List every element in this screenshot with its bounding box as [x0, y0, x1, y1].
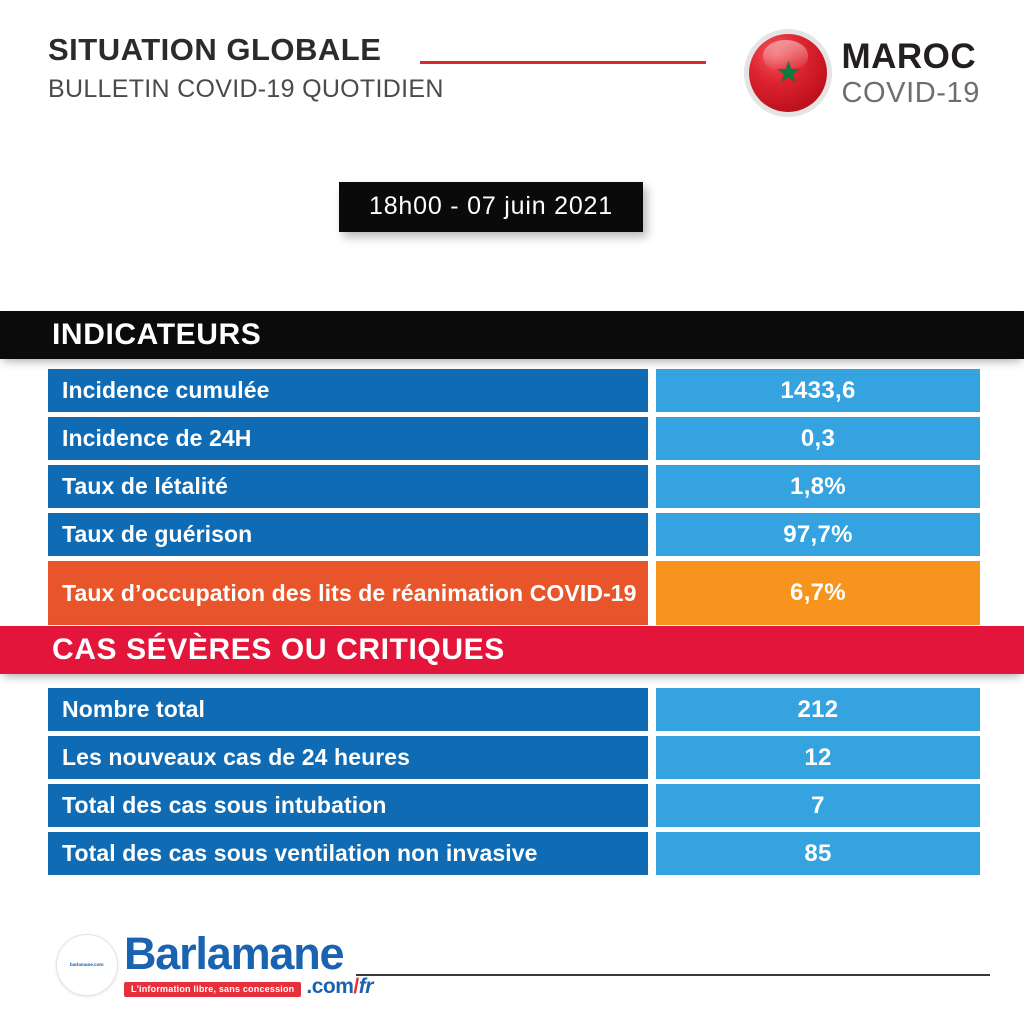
- barlamane-name: Barlamane: [124, 932, 373, 975]
- barlamane-lower-lockup: L'information libre, sans concession .co…: [124, 976, 373, 997]
- barlamane-slogan: L'information libre, sans concession: [124, 982, 301, 997]
- title-block: SITUATION GLOBALE BULLETIN COVID-19 QUOT…: [48, 34, 444, 102]
- row-value: 6,7%: [656, 561, 980, 625]
- table-row: Incidence de 24H 0,3: [48, 417, 980, 460]
- row-value: 85: [656, 832, 980, 875]
- table-row: Nombre total 212: [48, 688, 980, 731]
- brand-tagline: COVID-19: [841, 79, 980, 108]
- barlamane-domain: .com/fr: [306, 976, 373, 997]
- row-value: 1,8%: [656, 465, 980, 508]
- section-header-indicateurs: INDICATEURS: [0, 311, 1024, 359]
- barlamane-logo[interactable]: barlamane.com Barlamane L'information li…: [56, 932, 373, 997]
- table-row-highlight: Taux d’occupation des lits de réanimatio…: [48, 561, 980, 625]
- row-label: Incidence de 24H: [48, 417, 648, 460]
- row-label: Total des cas sous ventilation non invas…: [48, 832, 648, 875]
- row-label: Taux d’occupation des lits de réanimatio…: [48, 561, 648, 625]
- barlamane-badge-icon: barlamane.com: [56, 934, 118, 996]
- barlamane-wordmark: Barlamane L'information libre, sans conc…: [124, 932, 373, 997]
- row-value: 0,3: [656, 417, 980, 460]
- indicateurs-table: Incidence cumulée 1433,6 Incidence de 24…: [48, 369, 980, 630]
- brand-lockup: ★ MAROC COVID-19: [749, 34, 980, 112]
- page-header: SITUATION GLOBALE BULLETIN COVID-19 QUOT…: [0, 34, 1024, 129]
- row-value: 12: [656, 736, 980, 779]
- page-footer: barlamane.com Barlamane L'information li…: [0, 926, 1024, 1006]
- brand-text: MAROC COVID-19: [841, 39, 980, 108]
- row-label: Total des cas sous intubation: [48, 784, 648, 827]
- barlamane-badge-text: barlamane.com: [70, 962, 104, 968]
- table-row: Incidence cumulée 1433,6: [48, 369, 980, 412]
- row-value: 97,7%: [656, 513, 980, 556]
- domain-com: .com: [306, 975, 353, 998]
- date-banner: 18h00 - 07 juin 2021: [339, 182, 643, 232]
- row-value: 212: [656, 688, 980, 731]
- star-icon: ★: [775, 59, 801, 88]
- row-label: Les nouveaux cas de 24 heures: [48, 736, 648, 779]
- section-title-indicateurs: INDICATEURS: [0, 318, 261, 352]
- morocco-flag-icon: ★: [749, 34, 827, 112]
- title-divider-rule: [420, 61, 706, 64]
- page-title: SITUATION GLOBALE: [48, 34, 444, 67]
- cas-severes-table: Nombre total 212 Les nouveaux cas de 24 …: [48, 688, 980, 880]
- row-label: Incidence cumulée: [48, 369, 648, 412]
- infographic-page: SITUATION GLOBALE BULLETIN COVID-19 QUOT…: [0, 0, 1024, 1024]
- section-title-cas-severes: CAS SÉVÈRES OU CRITIQUES: [0, 633, 505, 667]
- footer-divider-rule: [356, 974, 990, 976]
- brand-name: MAROC: [841, 39, 980, 74]
- section-header-cas-severes: CAS SÉVÈRES OU CRITIQUES: [0, 626, 1024, 674]
- page-subtitle: BULLETIN COVID-19 QUOTIDIEN: [48, 76, 444, 102]
- table-row: Total des cas sous ventilation non invas…: [48, 832, 980, 875]
- row-label: Nombre total: [48, 688, 648, 731]
- row-label: Taux de guérison: [48, 513, 648, 556]
- row-value: 7: [656, 784, 980, 827]
- row-value: 1433,6: [656, 369, 980, 412]
- table-row: Total des cas sous intubation 7: [48, 784, 980, 827]
- table-row: Les nouveaux cas de 24 heures 12: [48, 736, 980, 779]
- row-label: Taux de létalité: [48, 465, 648, 508]
- table-row: Taux de létalité 1,8%: [48, 465, 980, 508]
- table-row: Taux de guérison 97,7%: [48, 513, 980, 556]
- domain-fr: fr: [359, 975, 373, 998]
